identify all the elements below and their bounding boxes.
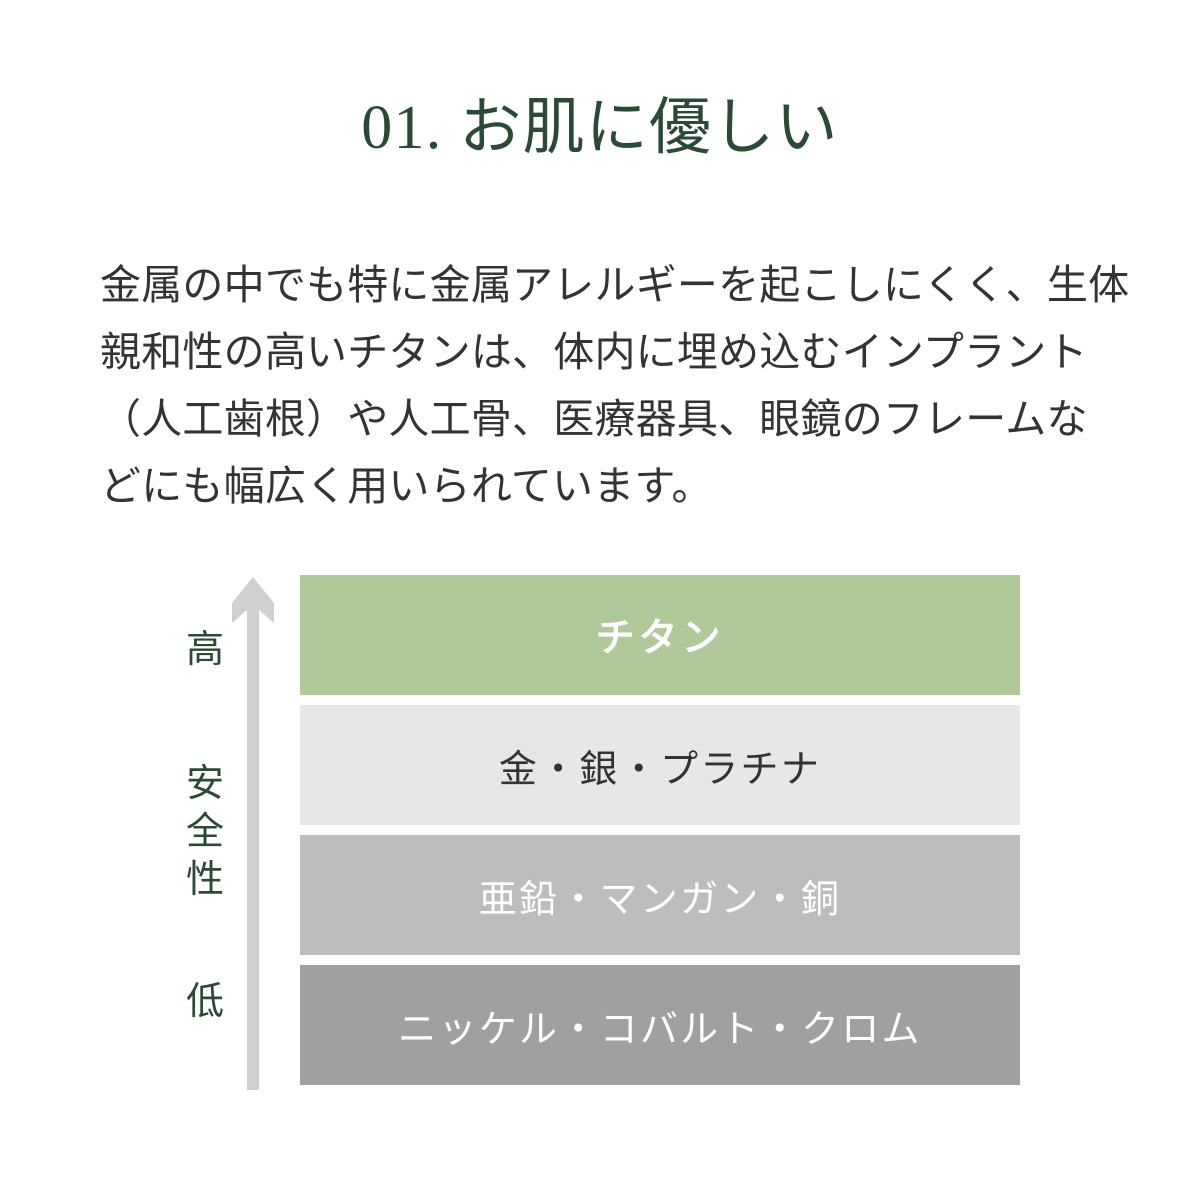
body-line-2: 親和性の高いチタンは、体内に埋め込むインプラント xyxy=(100,319,1100,386)
chart-bar-nickel-cobalt-chrome: ニッケル・コバルト・クロム xyxy=(300,965,1020,1085)
chart-bar-titanium: チタン xyxy=(300,575,1020,695)
chart-bars: チタン 金・銀・プラチナ 亜鉛・マンガン・銅 ニッケル・コバルト・クロム xyxy=(300,575,1020,1095)
infographic-page: 01. お肌に優しい 金属の中でも特に金属アレルギーを起こしにくく、生体 親和性… xyxy=(0,0,1200,1200)
body-line-4: どにも幅広く用いられています。 xyxy=(100,453,1100,520)
body-paragraph: 金属の中でも特に金属アレルギーを起こしにくく、生体 親和性の高いチタンは、体内に… xyxy=(100,252,1100,520)
page-title: 01. お肌に優しい xyxy=(0,96,1200,161)
axis-label-high: 高 xyxy=(170,628,240,672)
chart-bar-label: 金・銀・プラチナ xyxy=(499,738,821,793)
body-line-1: 金属の中でも特に金属アレルギーを起こしにくく、生体 xyxy=(100,252,1100,319)
up-arrow-icon xyxy=(232,577,274,1090)
safety-ranking-chart: 高 安 全 性 低 チタン 金・銀・プラチナ 亜鉛・マンガン・銅 xyxy=(0,565,1200,1100)
axis-label-safety-char-2: 全 xyxy=(186,808,224,856)
chart-bar-label: 亜鉛・マンガン・銅 xyxy=(479,868,842,923)
chart-bar-precious-metals: 金・銀・プラチナ xyxy=(300,705,1020,825)
chart-bar-label: ニッケル・コバルト・クロム xyxy=(398,998,922,1053)
body-line-3: （人工歯根）や人工骨、医療器具、眼鏡のフレームな xyxy=(100,386,1100,453)
axis-label-safety: 安 全 性 xyxy=(170,747,240,917)
axis-label-low: 低 xyxy=(170,980,240,1024)
axis-label-safety-char-1: 安 xyxy=(186,760,224,808)
axis-label-safety-char-3: 性 xyxy=(186,856,224,904)
chart-bar-zinc-manganese-copper: 亜鉛・マンガン・銅 xyxy=(300,835,1020,955)
chart-axis-labels: 高 安 全 性 低 xyxy=(170,565,240,1090)
chart-bar-label: チタン xyxy=(596,607,725,663)
